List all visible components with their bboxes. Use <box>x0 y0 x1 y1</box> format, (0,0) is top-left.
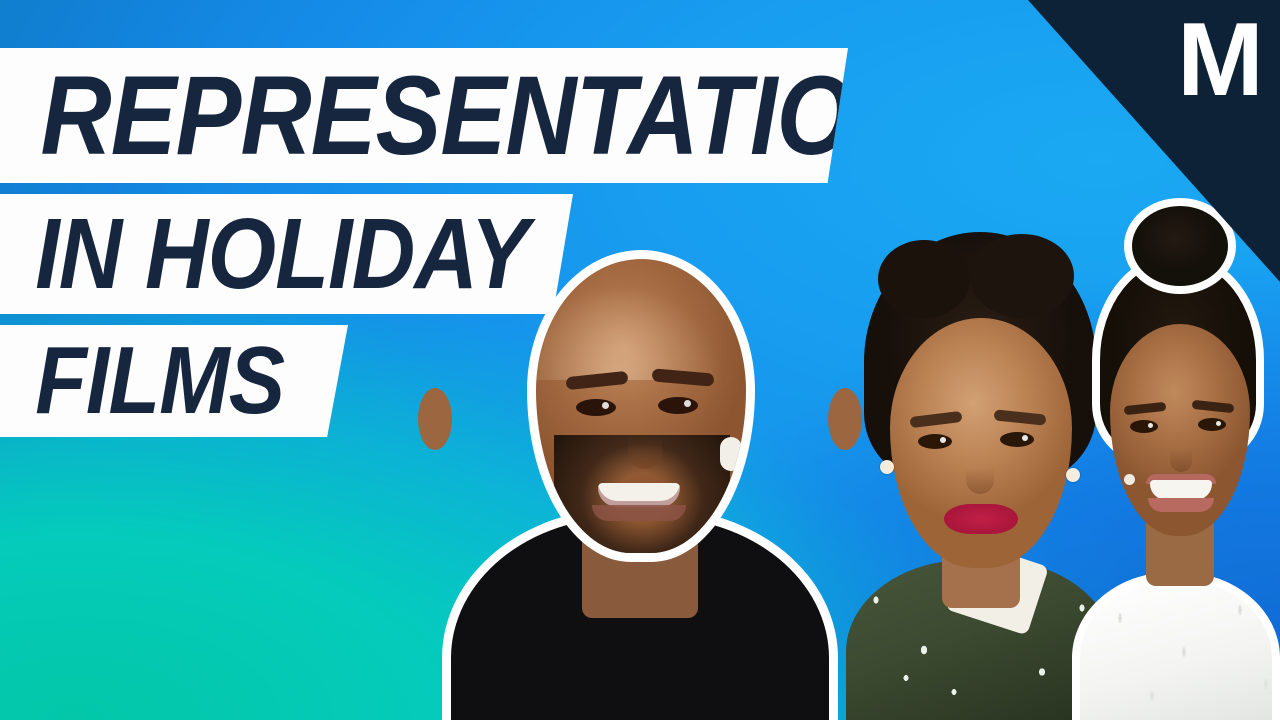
headline-line-3-text: FILMS <box>0 326 284 436</box>
headline-line-2-text: IN HOLIDAY <box>0 197 528 312</box>
mashable-m-logo-icon: M <box>1176 6 1262 114</box>
headline-line-1-text: REPRESENTATION <box>0 51 923 180</box>
headline-banner-line-3: FILMS <box>0 325 348 437</box>
headline-block: REPRESENTATION IN HOLIDAY FILMS <box>0 48 900 448</box>
headline-banner-line-2: IN HOLIDAY <box>0 194 573 314</box>
headline-banner-line-1: REPRESENTATION <box>0 48 848 183</box>
video-thumbnail: Bald man with goatee smiling, wearing bl… <box>0 0 1280 720</box>
